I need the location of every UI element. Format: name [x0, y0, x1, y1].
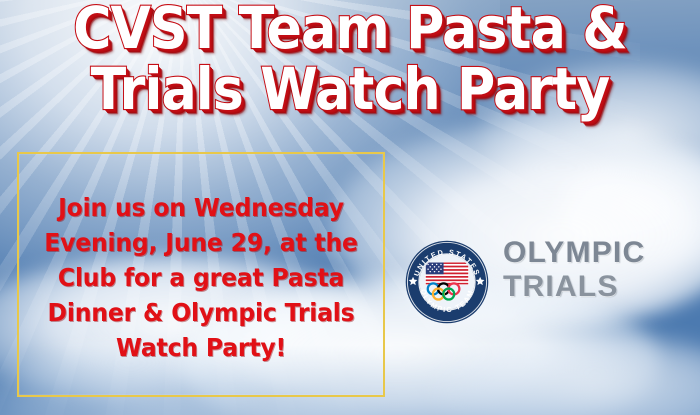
poster-canvas: CVST Team Pasta & Trials Watch Party Joi…	[0, 0, 700, 415]
poster-title: CVST Team Pasta & Trials Watch Party	[35, 0, 665, 120]
olympic-trials-wordmark: OLYMPIC TRIALS	[503, 236, 693, 304]
wordmark-line-olympic: OLYMPIC	[503, 236, 693, 270]
usa-olympic-team-badge-icon: UNITED STATES OLYMPIC TEAM	[404, 239, 490, 325]
announcement-text: Join us on Wednesday Evening, June 29, a…	[29, 190, 373, 365]
wordmark-line-trials: TRIALS	[503, 270, 693, 304]
